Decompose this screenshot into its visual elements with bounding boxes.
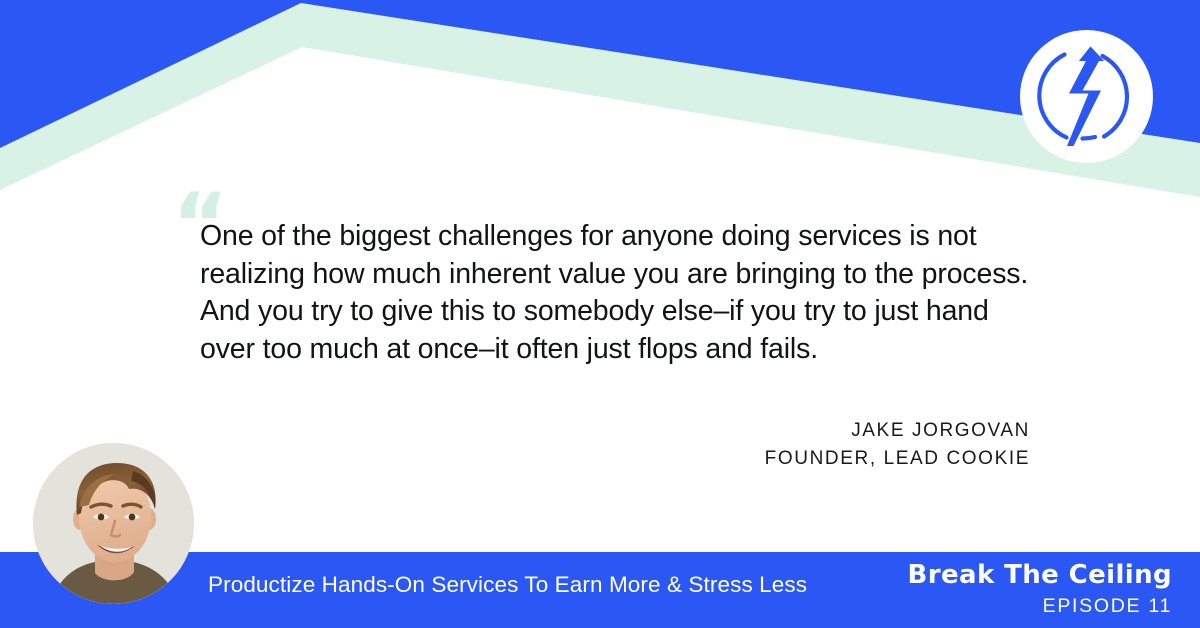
attribution-name: JAKE JORGOVAN: [765, 417, 1030, 445]
guest-avatar: [33, 443, 194, 604]
attribution-role: FOUNDER, LEAD COOKIE: [765, 445, 1030, 473]
episode-number-label: EPISODE 11: [908, 593, 1172, 619]
brand-lockup: Break The Ceiling EPISODE 11: [908, 560, 1172, 619]
attribution: JAKE JORGOVAN FOUNDER, LEAD COOKIE: [765, 417, 1030, 473]
brand-name: Break The Ceiling: [908, 560, 1172, 591]
quote-card: “ One of the biggest challenges for anyo…: [0, 0, 1200, 628]
guest-headshot-avatar: [33, 443, 194, 604]
quote-text: One of the biggest challenges for anyone…: [200, 218, 1032, 368]
episode-title: Productize Hands-On Services To Earn Mor…: [208, 570, 807, 600]
lightning-bolt-circle-logo: [1020, 30, 1153, 163]
quote-block: “ One of the biggest challenges for anyo…: [200, 218, 1032, 368]
brand-logo: [1020, 30, 1153, 163]
